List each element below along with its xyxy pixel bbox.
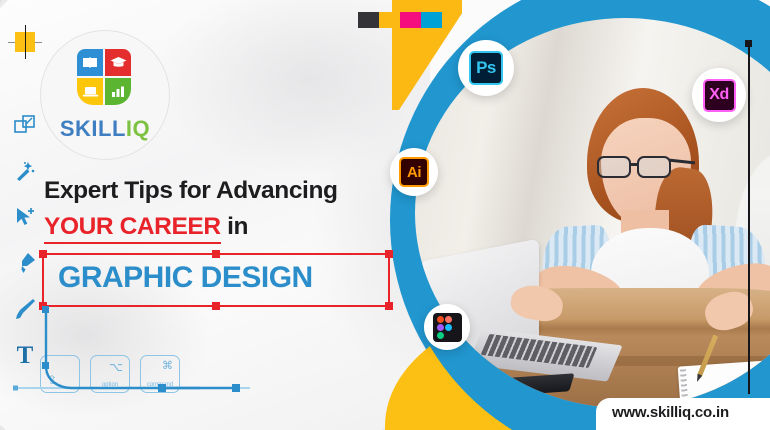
bar-chart-icon	[105, 78, 131, 105]
headline-highlight: YOUR CAREER	[44, 213, 221, 244]
xd-badge[interactable]: Xd	[692, 68, 746, 122]
cmyk-swatch-strip[interactable]	[358, 12, 442, 28]
vertical-guide-line	[748, 42, 750, 394]
illustrator-badge-label: Ai	[399, 157, 429, 187]
selection-handle-top-right[interactable]	[385, 250, 393, 258]
photoshop-badge[interactable]: Ps	[458, 40, 514, 96]
selection-handle-bottom-right[interactable]	[385, 302, 393, 310]
headline-line-2-rest: in	[227, 213, 248, 240]
transform-shapes-icon[interactable]	[8, 108, 42, 142]
skilliq-promo-banner: Ps Xd Ai	[0, 0, 770, 430]
figma-logo-icon	[433, 313, 462, 342]
pen-tool-icon[interactable]	[8, 246, 42, 280]
selection-handle-top-middle[interactable]	[212, 250, 220, 258]
swatch-cyan[interactable]	[421, 12, 442, 28]
photoshop-badge-label: Ps	[469, 51, 503, 85]
graduation-cap-icon	[105, 49, 131, 76]
headline-line-1: Expert Tips for Advancing	[44, 178, 394, 205]
skilliq-logo[interactable]: SKILLIQ	[40, 30, 170, 160]
direct-selection-icon[interactable]	[8, 200, 42, 234]
website-url[interactable]: www.skilliq.co.in	[612, 404, 729, 421]
headline-line-2: YOUR CAREER in	[44, 213, 394, 241]
logo-wordmark-primary: SKILL	[60, 116, 126, 141]
headline-block: Expert Tips for Advancing YOUR CAREER in	[44, 178, 394, 241]
path-anchor-corner[interactable]	[158, 384, 166, 392]
selection-handle-top-left[interactable]	[39, 250, 47, 258]
figma-badge[interactable]	[424, 304, 470, 350]
book-icon	[77, 49, 103, 76]
swatch-yellow[interactable]	[379, 12, 400, 28]
illustrator-badge[interactable]: Ai	[390, 148, 438, 196]
path-anchor-mid[interactable]	[42, 362, 49, 369]
logo-wordmark: SKILLIQ	[60, 116, 150, 142]
crosshair-marker-icon	[8, 25, 42, 59]
logo-wordmark-secondary: IQ	[126, 116, 150, 141]
laptop-icon	[77, 78, 103, 105]
path-anchor-left[interactable]	[13, 386, 18, 391]
glasses-icon	[597, 156, 681, 178]
shield-icon	[77, 49, 133, 109]
swatch-key-black[interactable]	[358, 12, 379, 28]
swatch-magenta[interactable]	[400, 12, 421, 28]
magic-wand-icon[interactable]	[8, 154, 42, 188]
path-anchor-top[interactable]	[42, 306, 49, 313]
guide-anchor-handle[interactable]	[745, 40, 752, 47]
bezier-path-decoration	[0, 280, 250, 430]
path-anchor-right[interactable]	[232, 384, 240, 392]
xd-badge-label: Xd	[703, 79, 736, 112]
